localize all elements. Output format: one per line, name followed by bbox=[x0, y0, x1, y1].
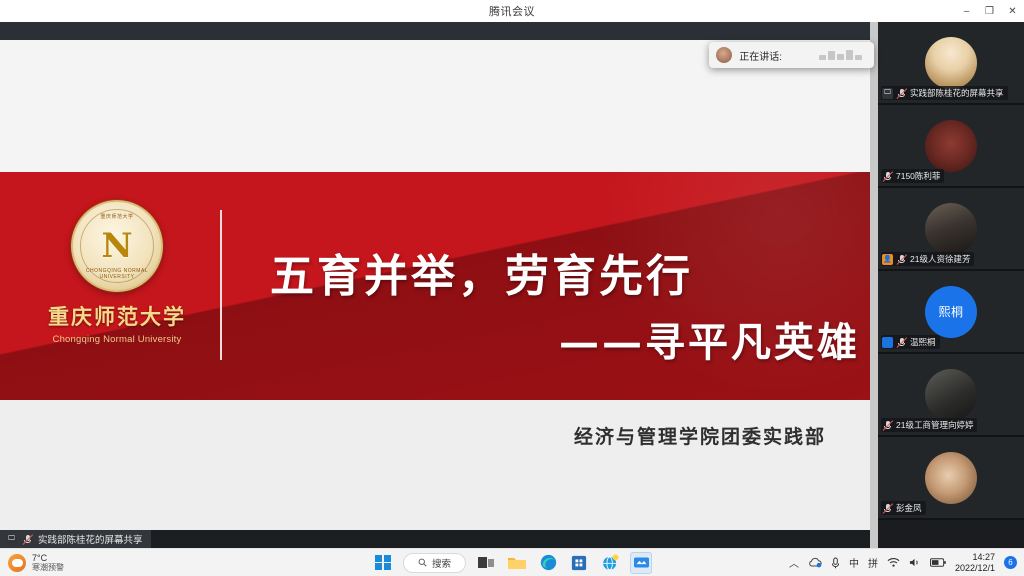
self-icon: 👤 bbox=[882, 337, 893, 348]
screen-share-status-bar: 🖵 实践部陈桂花的屏幕共享 bbox=[0, 530, 870, 548]
weather-description: 寒潮预警 bbox=[32, 563, 64, 572]
university-crest-icon: 重庆师范大学 N CHONGQING NORMAL UNIVERSITY bbox=[71, 200, 163, 292]
shared-screen-stage[interactable]: 重庆师范大学 N CHONGQING NORMAL UNIVERSITY 重庆师… bbox=[0, 22, 870, 548]
slide-title: 五育并举，劳育先行 bbox=[270, 252, 870, 301]
weather-icon bbox=[8, 554, 26, 572]
wifi-icon[interactable] bbox=[887, 557, 900, 568]
participant-nameplate: 21级工商管理向婷婷 bbox=[881, 418, 977, 432]
participant-nameplate: 👤21级人资徐建芳 bbox=[881, 252, 974, 266]
windows-taskbar: 7°C 寒潮预警 搜索 bbox=[0, 548, 1024, 576]
crest-arc-top-text: 重庆师范大学 bbox=[73, 213, 161, 220]
ime-pinyin-icon[interactable]: 拼 bbox=[868, 555, 878, 570]
speaking-avatar bbox=[716, 47, 732, 63]
mic-muted-icon bbox=[882, 171, 893, 182]
store-icon bbox=[571, 555, 587, 571]
screen-share-icon: 🖵 bbox=[882, 88, 893, 99]
rail-divider bbox=[870, 22, 878, 548]
university-name-en: Chongqing Normal University bbox=[42, 334, 192, 345]
weather-text: 7°C 寒潮预警 bbox=[32, 553, 64, 573]
presentation-slide: 重庆师范大学 N CHONGQING NORMAL UNIVERSITY 重庆师… bbox=[0, 40, 870, 530]
edge-browser-button[interactable] bbox=[537, 552, 559, 574]
audio-waveform-icon bbox=[819, 50, 862, 60]
edge-icon bbox=[540, 554, 557, 571]
window-controls: – ❐ ✕ bbox=[955, 0, 1024, 22]
file-explorer-button[interactable] bbox=[506, 552, 528, 574]
crest-arc-bottom-text: CHONGQING NORMAL UNIVERSITY bbox=[73, 268, 161, 280]
share-status-chip: 🖵 实践部陈桂花的屏幕共享 bbox=[0, 530, 151, 548]
participant-tile[interactable]: 21级工商管理向婷婷 bbox=[878, 354, 1024, 437]
clock-time: 14:27 bbox=[955, 552, 995, 562]
speaking-label: 正在讲话: bbox=[739, 48, 782, 63]
search-icon bbox=[418, 558, 427, 567]
clock[interactable]: 14:27 2022/12/1 bbox=[955, 552, 995, 573]
participant-tile[interactable]: 熙桐👤温熙桐 bbox=[878, 271, 1024, 354]
mic-muted-icon bbox=[882, 503, 893, 514]
participant-tile[interactable]: 🖵实践部陈桂花的屏幕共享 bbox=[878, 22, 1024, 105]
meeting-body: 重庆师范大学 N CHONGQING NORMAL UNIVERSITY 重庆师… bbox=[0, 22, 1024, 548]
participant-avatar: 熙桐 bbox=[925, 286, 977, 338]
ime-mode-icon[interactable]: 中 bbox=[849, 555, 859, 570]
mic-muted-icon bbox=[896, 337, 907, 348]
participant-nameplate: 7150陈利菲 bbox=[881, 169, 944, 183]
mic-muted-icon bbox=[896, 254, 907, 265]
monitor-icon: 🖵 bbox=[6, 534, 17, 545]
slide-footer-text: 经济与管理学院团委实践部 bbox=[0, 422, 870, 449]
participant-avatar bbox=[925, 369, 977, 421]
search-label: 搜索 bbox=[432, 556, 451, 570]
microsoft-store-button[interactable] bbox=[568, 552, 590, 574]
university-logo: 重庆师范大学 N CHONGQING NORMAL UNIVERSITY 重庆师… bbox=[42, 200, 192, 345]
slide-banner: 重庆师范大学 N CHONGQING NORMAL UNIVERSITY 重庆师… bbox=[0, 172, 870, 400]
participant-nameplate: 🖵实践部陈桂花的屏幕共享 bbox=[881, 86, 1008, 100]
task-view-icon bbox=[478, 556, 494, 570]
participant-avatar bbox=[925, 120, 977, 172]
participant-name: 彭金凤 bbox=[896, 502, 922, 514]
search-input[interactable]: 搜索 bbox=[403, 553, 466, 573]
tencent-meeting-button[interactable] bbox=[630, 552, 652, 574]
share-status-label: 实践部陈桂花的屏幕共享 bbox=[38, 532, 143, 546]
participant-name: 7150陈利菲 bbox=[896, 170, 940, 182]
mic-muted-icon bbox=[882, 420, 893, 431]
host-icon: 👤 bbox=[882, 254, 893, 265]
restore-button[interactable]: ❐ bbox=[978, 0, 1001, 22]
participant-tile[interactable]: 👤21级人资徐建芳 bbox=[878, 188, 1024, 271]
weather-widget[interactable]: 7°C 寒潮预警 bbox=[0, 553, 210, 573]
microphone-icon[interactable] bbox=[831, 557, 840, 569]
folder-icon bbox=[508, 555, 526, 570]
participant-name: 温熙桐 bbox=[910, 336, 936, 348]
participant-avatar bbox=[925, 37, 977, 89]
close-button[interactable]: ✕ bbox=[1001, 0, 1024, 22]
participant-nameplate: 彭金凤 bbox=[881, 501, 926, 515]
notification-badge[interactable]: 6 bbox=[1004, 556, 1017, 569]
participant-name: 21级人资徐建芳 bbox=[910, 253, 970, 265]
window-title: 腾讯会议 bbox=[489, 3, 535, 19]
university-name-cn: 重庆师范大学 bbox=[42, 301, 192, 331]
volume-icon[interactable] bbox=[909, 557, 921, 568]
stage-top-band bbox=[0, 22, 870, 40]
participant-avatar bbox=[925, 203, 977, 255]
participant-nameplate: 👤温熙桐 bbox=[881, 335, 940, 349]
help-app-button[interactable] bbox=[599, 552, 621, 574]
help-globe-icon bbox=[602, 554, 619, 571]
participant-avatar bbox=[925, 452, 977, 504]
tencent-meeting-icon bbox=[634, 556, 649, 569]
clock-date: 2022/12/1 bbox=[955, 563, 995, 573]
participant-tile[interactable]: 彭金凤 bbox=[878, 437, 1024, 520]
system-tray: ︿ 中 拼 14:27 2022/12/1 6 bbox=[789, 552, 1024, 573]
start-button[interactable] bbox=[372, 552, 394, 574]
slide-subtitle: ——寻平凡英雄 bbox=[270, 310, 870, 368]
slide-bottom-area bbox=[0, 400, 870, 530]
show-hidden-icons-button[interactable]: ︿ bbox=[789, 555, 799, 570]
speaking-indicator: 正在讲话: bbox=[709, 42, 874, 68]
windows-logo-icon bbox=[375, 555, 391, 571]
slide-divider bbox=[220, 210, 222, 360]
mic-muted-icon bbox=[22, 534, 33, 545]
window-titlebar: 腾讯会议 – ❐ ✕ bbox=[0, 0, 1024, 22]
taskbar-app-group: 搜索 bbox=[372, 552, 652, 574]
task-view-button[interactable] bbox=[475, 552, 497, 574]
weather-temperature: 7°C bbox=[32, 553, 64, 563]
tencent-meeting-window: 腾讯会议 – ❐ ✕ 重庆师范大学 N CHONGQING NORMAL UN bbox=[0, 0, 1024, 576]
participant-tile[interactable]: 7150陈利菲 bbox=[878, 105, 1024, 188]
participant-name: 实践部陈桂花的屏幕共享 bbox=[910, 87, 1004, 99]
mic-muted-icon bbox=[896, 88, 907, 99]
participant-rail[interactable]: 🖵实践部陈桂花的屏幕共享7150陈利菲👤21级人资徐建芳熙桐👤温熙桐21级工商管… bbox=[878, 22, 1024, 548]
battery-icon[interactable] bbox=[930, 558, 946, 567]
participant-name: 21级工商管理向婷婷 bbox=[896, 419, 973, 431]
onedrive-sync-icon[interactable] bbox=[808, 557, 822, 568]
minimize-button[interactable]: – bbox=[955, 0, 978, 22]
